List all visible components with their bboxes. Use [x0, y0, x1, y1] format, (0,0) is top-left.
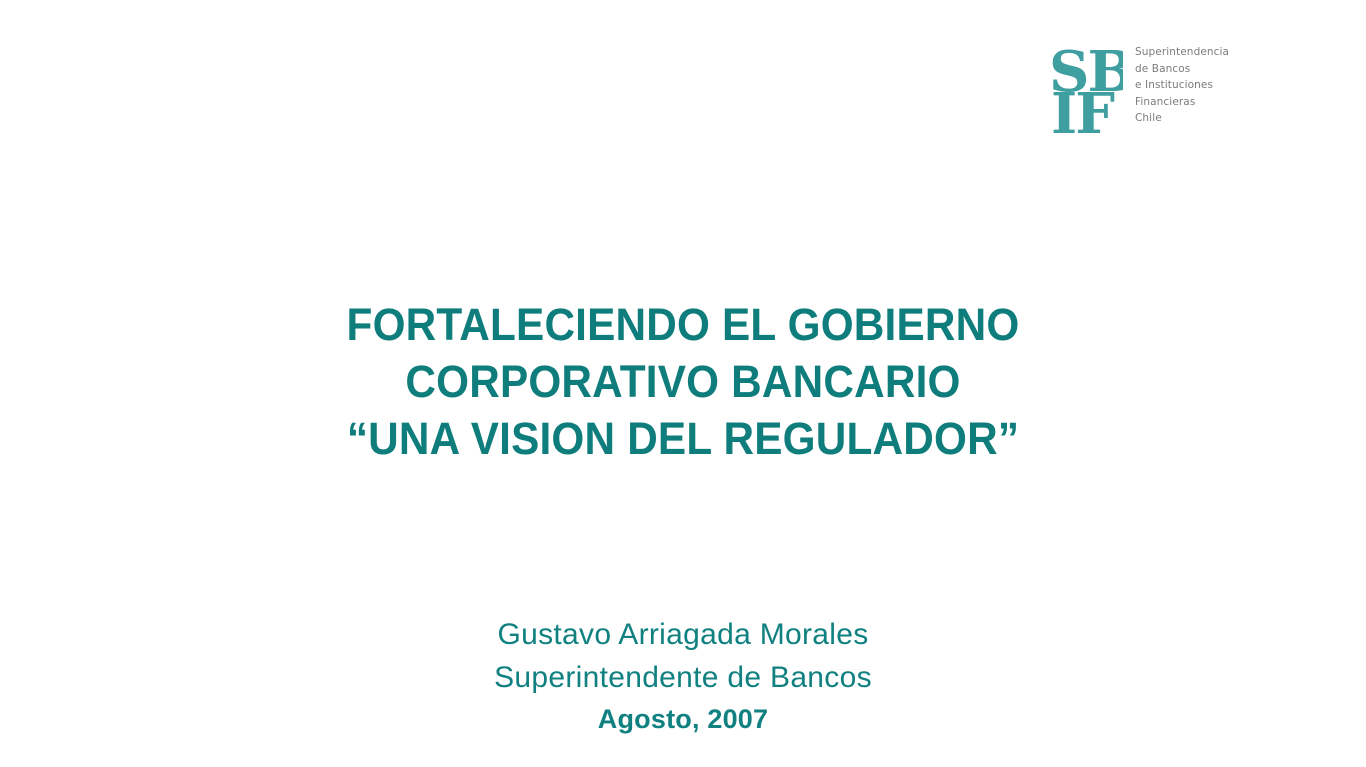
logo-line-4: Financieras: [1135, 94, 1229, 111]
logo-line-3: e Instituciones: [1135, 77, 1229, 94]
slide-title: FORTALECIENDO EL GOBIERNO CORPORATIVO BA…: [0, 296, 1366, 467]
sbif-logo-wordmark: Superintendencia de Bancos e Institucion…: [1135, 41, 1229, 127]
logo-line-5: Chile: [1135, 110, 1229, 127]
presentation-date: Agosto, 2007: [0, 699, 1366, 739]
presenter-block: Gustavo Arriagada Morales Superintendent…: [0, 613, 1366, 739]
svg-text:IF: IF: [1051, 81, 1115, 135]
sbif-monogram-icon: SB IF: [1049, 41, 1123, 135]
title-line-3: “UNA VISION DEL REGULADOR”: [41, 410, 1325, 467]
title-line-1: FORTALECIENDO EL GOBIERNO: [41, 296, 1325, 353]
sbif-logo: SB IF Superintendencia de Bancos e Insti…: [1049, 41, 1249, 137]
presenter-name: Gustavo Arriagada Morales: [0, 613, 1366, 656]
logo-line-1: Superintendencia: [1135, 44, 1229, 61]
logo-line-2: de Bancos: [1135, 61, 1229, 78]
title-slide: SB IF Superintendencia de Bancos e Insti…: [0, 0, 1366, 767]
title-line-2: CORPORATIVO BANCARIO: [41, 353, 1325, 410]
presenter-role: Superintendente de Bancos: [0, 656, 1366, 699]
